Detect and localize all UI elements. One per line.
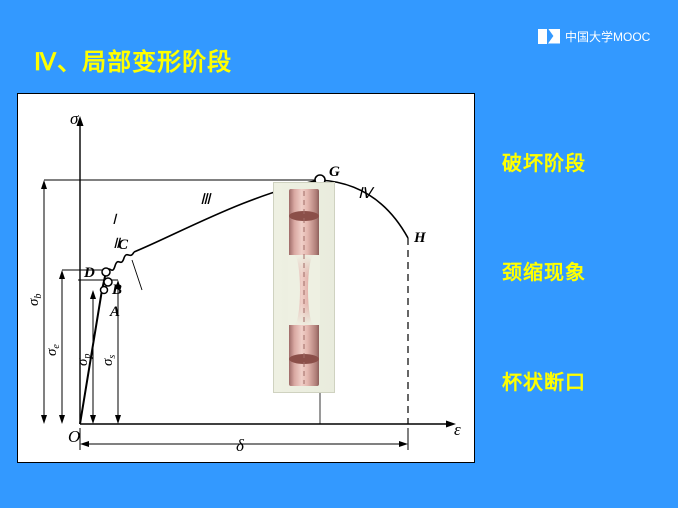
point-label-G: G — [329, 164, 340, 180]
point-label-D: D — [83, 265, 95, 281]
stage-label-4: Ⅳ — [358, 186, 375, 202]
point-label-C: C — [118, 237, 129, 253]
strain-label-delta: δ — [236, 436, 245, 455]
stress-label-sigma-p: σp — [75, 354, 93, 366]
mooc-logo: 中国大学MOOC — [538, 26, 656, 46]
necked-tensile-specimen-image — [273, 182, 335, 393]
stress-strain-svg: σ ε O Ⅰ Ⅱ Ⅲ Ⅳ D C B A G H σb σe σp σs δ — [18, 94, 474, 462]
page-title: Ⅳ、局部变形阶段 — [34, 42, 232, 77]
stage-label-1: Ⅰ — [112, 213, 118, 228]
book-icon — [538, 29, 560, 44]
point-label-H: H — [413, 230, 427, 246]
right-label-cup-fracture: 杯状断口 — [502, 366, 586, 395]
stage-label-3: Ⅲ — [200, 192, 212, 208]
origin-label: O — [68, 427, 80, 446]
axis-x-label: ε — [454, 420, 461, 439]
right-label-necking: 颈缩现象 — [502, 256, 586, 285]
stress-label-sigma-s: σs — [100, 355, 118, 366]
stress-label-sigma-e: σe — [44, 344, 62, 356]
point-label-B: B — [111, 282, 122, 298]
axis-y-label: σ — [70, 109, 79, 128]
stress-strain-diagram: σ ε O Ⅰ Ⅱ Ⅲ Ⅳ D C B A G H σb σe σp σs δ — [17, 93, 475, 463]
point-label-A: A — [109, 304, 120, 320]
stress-label-sigma-b: σb — [26, 294, 44, 306]
mooc-logo-text: 中国大学MOOC — [565, 28, 650, 45]
right-label-failure-stage: 破坏阶段 — [502, 147, 586, 176]
